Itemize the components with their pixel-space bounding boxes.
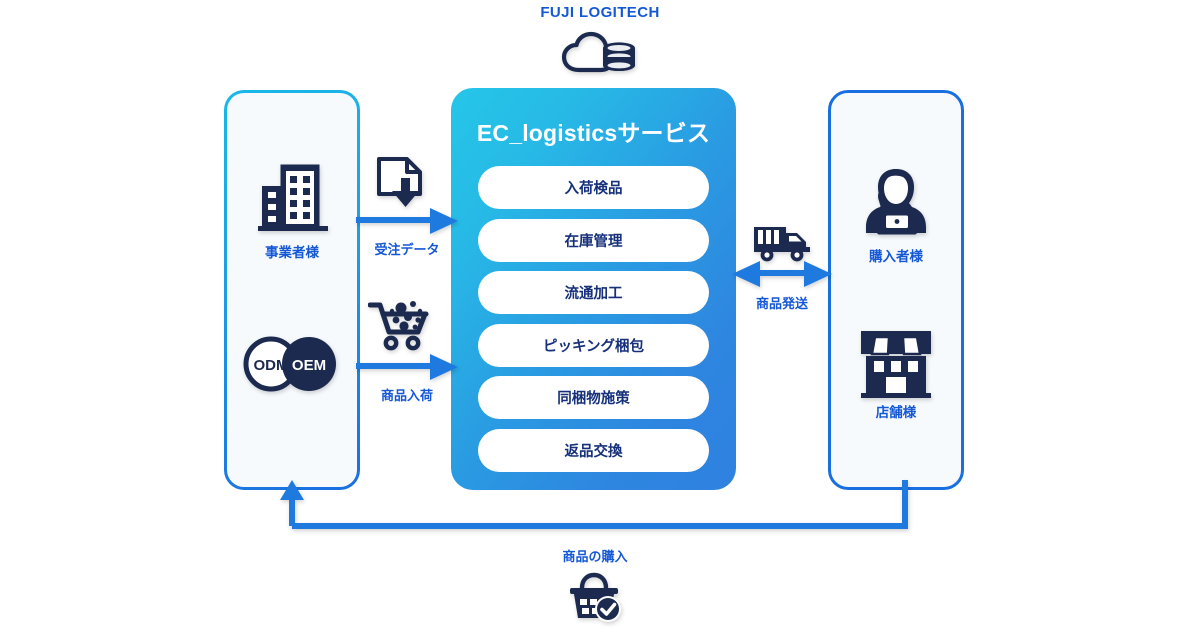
center-panel-title: EC_logisticsサービス xyxy=(451,114,736,148)
odm-label: ODM xyxy=(254,357,289,374)
flow-label-order-data: 受注データ xyxy=(356,239,458,258)
right-actor-label-store: 店舗様 xyxy=(828,401,964,421)
basket-check-icon xyxy=(567,572,623,624)
left-actors-panel xyxy=(224,90,360,490)
right-actor-label-buyer: 購入者様 xyxy=(828,245,964,265)
document-download-icon xyxy=(375,156,429,212)
arrow-order-data xyxy=(356,206,458,236)
service-item[interactable]: 同梱物施策 xyxy=(478,376,709,419)
delivery-truck-icon xyxy=(752,222,814,264)
flow-label-purchase: 商品の購入 xyxy=(495,546,695,565)
service-item[interactable]: 在庫管理 xyxy=(478,219,709,262)
oem-label: OEM xyxy=(292,357,326,374)
arrow-shipping-bidirectional xyxy=(730,259,834,289)
brand-title: FUJI LOGITECH xyxy=(0,4,1200,21)
person-laptop-icon xyxy=(862,165,930,237)
odm-oem-circles-icon: ODM OEM xyxy=(243,336,343,392)
diagram-canvas: FUJI LOGITECH xyxy=(0,0,1200,630)
arrow-goods-in xyxy=(356,352,458,382)
service-item[interactable]: 入荷検品 xyxy=(478,166,709,209)
office-building-icon xyxy=(256,160,330,232)
right-actors-panel xyxy=(828,90,964,490)
service-item[interactable]: 流通加工 xyxy=(478,271,709,314)
service-list: 入荷検品 在庫管理 流通加工 ピッキング梱包 同梱物施策 返品交換 xyxy=(478,166,709,472)
left-actor-label-business: 事業者様 xyxy=(224,241,360,261)
ec-logistics-service-panel: EC_logisticsサービス 入荷検品 在庫管理 流通加工 ピッキング梱包 … xyxy=(451,88,736,490)
shopping-cart-icon xyxy=(368,298,430,354)
service-item[interactable]: ピッキング梱包 xyxy=(478,324,709,367)
flow-label-shipping: 商品発送 xyxy=(730,293,834,312)
storefront-icon xyxy=(857,327,935,399)
cloud-database-icon xyxy=(561,26,639,82)
flow-label-goods-in: 商品入荷 xyxy=(356,385,458,404)
service-item[interactable]: 返品交換 xyxy=(478,429,709,472)
arrow-purchase-loop xyxy=(270,480,910,542)
